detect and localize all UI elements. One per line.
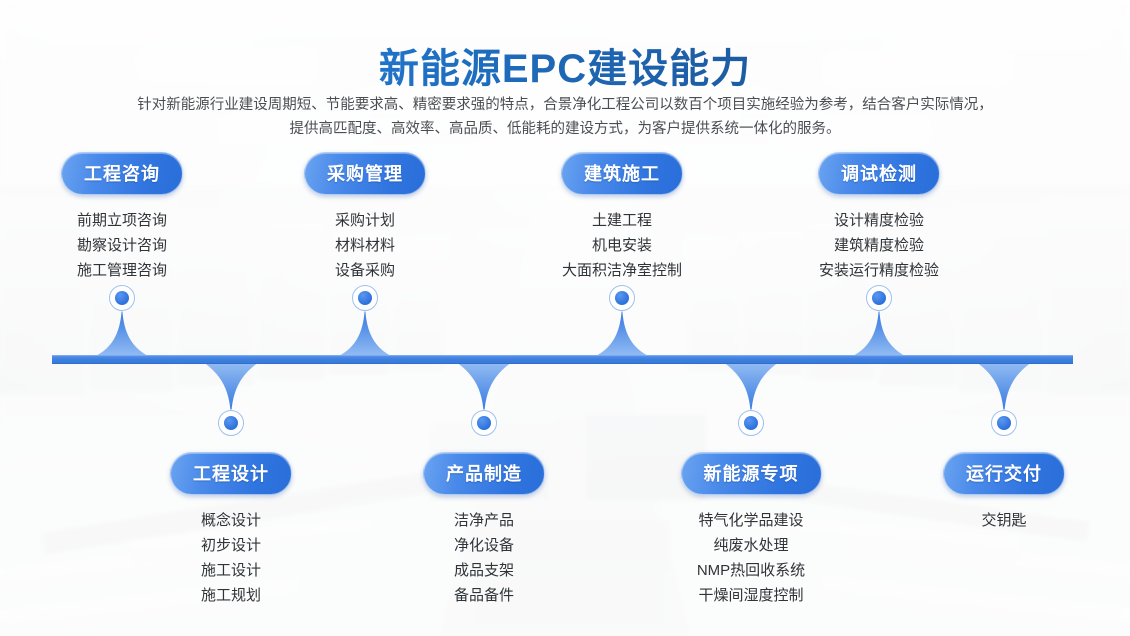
stage-item: 特气化学品建设 [651,508,851,533]
stage-pill-product-manufacturing[interactable]: 产品制造 [423,452,545,495]
stage-item: 施工规划 [131,583,331,608]
stage-item: 大面积洁净室控制 [522,258,722,283]
stage-group-commissioning-inspection: 调试检测 设计精度检验 建筑精度检验 安装运行精度检验 [779,152,979,283]
stage-item: 纯废水处理 [651,533,851,558]
stage-items-engineering-consulting: 前期立项咨询 勘察设计咨询 施工管理咨询 [22,208,222,283]
page-title: 新能源EPC建设能力 [0,36,1130,94]
stage-group-engineering-consulting: 工程咨询 前期立项咨询 勘察设计咨询 施工管理咨询 [22,152,222,283]
stage-item: 初步设计 [131,533,331,558]
stage-pill-commissioning-inspection[interactable]: 调试检测 [818,152,940,195]
infographic-content: 新能源EPC建设能力 针对新能源行业建设周期短、节能要求高、精密要求强的特点，合… [0,0,1130,636]
connector-funnel-up [90,305,154,357]
stage-item: 机电安装 [522,233,722,258]
stage-group-engineering-design: 工程设计 概念设计 初步设计 施工设计 施工规划 [131,452,331,608]
stage-group-new-energy-special: 新能源专项 特气化学品建设 纯废水处理 NMP热回收系统 干燥间湿度控制 [651,452,851,608]
stage-items-procurement-management: 采购计划 材料材料 设备采购 [265,208,465,283]
node-dot-core [115,291,129,305]
connector-funnel-up [590,305,654,357]
stage-items-product-manufacturing: 洁净产品 净化设备 成品支架 备品备件 [384,508,584,608]
node-dot-core [358,291,372,305]
stage-item: 采购计划 [265,208,465,233]
stage-pill-engineering-design[interactable]: 工程设计 [170,452,292,495]
node-dot-core [872,291,886,305]
stage-pill-operation-delivery[interactable]: 运行交付 [943,452,1065,495]
stage-item: 设计精度检验 [779,208,979,233]
timeline-node-dot[interactable] [738,410,764,436]
stage-item: 洁净产品 [384,508,584,533]
timeline-node-dot[interactable] [352,285,378,311]
stage-item: 交钥匙 [904,508,1104,533]
timeline-node-dot[interactable] [218,410,244,436]
node-dot-core [477,416,491,430]
node-dot-core [615,291,629,305]
timeline-node-dot[interactable] [609,285,635,311]
infographic-stage: 新能源EPC建设能力 针对新能源行业建设周期短、节能要求高、精密要求强的特点，合… [0,0,1130,636]
stage-item: 建筑精度检验 [779,233,979,258]
stage-pill-new-energy-special[interactable]: 新能源专项 [681,452,822,495]
stage-item: 安装运行精度检验 [779,258,979,283]
stage-item: 设备采购 [265,258,465,283]
page-subtitle: 针对新能源行业建设周期短、节能要求高、精密要求强的特点，合景净化工程公司以数百个… [65,93,1065,141]
subtitle-line-1: 针对新能源行业建设周期短、节能要求高、精密要求强的特点，合景净化工程公司以数百个… [65,93,1065,117]
stage-item: 施工管理咨询 [22,258,222,283]
connector-funnel-up [847,305,911,357]
stage-items-commissioning-inspection: 设计精度检验 建筑精度检验 安装运行精度检验 [779,208,979,283]
stage-pill-procurement-management[interactable]: 采购管理 [304,152,426,195]
stage-item: 净化设备 [384,533,584,558]
timeline-node-dot[interactable] [991,410,1017,436]
stage-items-engineering-design: 概念设计 初步设计 施工设计 施工规划 [131,508,331,608]
stage-group-building-construction: 建筑施工 土建工程 机电安装 大面积洁净室控制 [522,152,722,283]
stage-item: 土建工程 [522,208,722,233]
stage-group-product-manufacturing: 产品制造 洁净产品 净化设备 成品支架 备品备件 [384,452,584,608]
stage-item: 前期立项咨询 [22,208,222,233]
stage-item: 概念设计 [131,508,331,533]
node-dot-core [744,416,758,430]
stage-group-operation-delivery: 运行交付 交钥匙 [904,452,1104,533]
stage-pill-engineering-consulting[interactable]: 工程咨询 [61,152,183,195]
timeline-node-dot[interactable] [866,285,892,311]
stage-items-operation-delivery: 交钥匙 [904,508,1104,533]
stage-item: NMP热回收系统 [651,558,851,583]
timeline-node-dot[interactable] [471,410,497,436]
stage-item: 材料材料 [265,233,465,258]
stage-pill-building-construction[interactable]: 建筑施工 [561,152,683,195]
node-dot-core [224,416,238,430]
stage-group-procurement-management: 采购管理 采购计划 材料材料 设备采购 [265,152,465,283]
subtitle-line-2: 提供高匹配度、高效率、高品质、低能耗的建设方式，为客户提供系统一体化的服务。 [65,117,1065,141]
timeline-bar [52,355,1073,364]
stage-items-new-energy-special: 特气化学品建设 纯废水处理 NMP热回收系统 干燥间湿度控制 [651,508,851,608]
stage-item: 成品支架 [384,558,584,583]
stage-item: 干燥间湿度控制 [651,583,851,608]
stage-item: 勘察设计咨询 [22,233,222,258]
stage-item: 备品备件 [384,583,584,608]
stage-items-building-construction: 土建工程 机电安装 大面积洁净室控制 [522,208,722,283]
stage-item: 施工设计 [131,558,331,583]
node-dot-core [997,416,1011,430]
connector-funnel-up [333,305,397,357]
timeline-node-dot[interactable] [109,285,135,311]
